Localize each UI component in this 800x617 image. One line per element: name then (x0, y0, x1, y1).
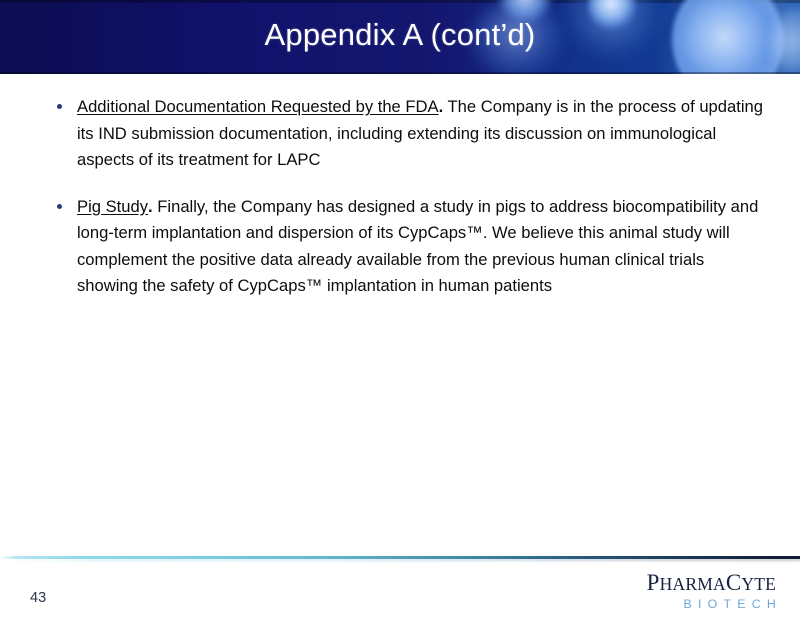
bullet-lead-term: Pig Study (77, 197, 148, 216)
bullet-dot-icon (57, 204, 62, 209)
bullet-list: Additional Documentation Requested by th… (52, 94, 764, 300)
logo-wordmark: PHARMACYTE (647, 571, 776, 596)
bullet-item-pig-study: Pig Study. Finally, the Company has desi… (52, 194, 764, 300)
bullet-dot-icon (57, 104, 62, 109)
logo-letter-p: P (647, 570, 660, 595)
slide-footer: 43 PHARMACYTE BIOTECH (0, 544, 800, 617)
slide-root: Appendix A (cont’d) Additional Documenta… (0, 0, 800, 617)
logo-letters-yte: YTE (741, 574, 776, 594)
logo-letters-harma: HARMA (660, 574, 726, 594)
company-logo: PHARMACYTE BIOTECH (647, 571, 776, 612)
logo-subtitle: BIOTECH (647, 597, 782, 612)
bullet-body-text: Finally, the Company has designed a stud… (77, 197, 758, 296)
footer-divider-glow (0, 559, 800, 561)
banner-top-edge (0, 0, 800, 3)
bullet-item-additional-documentation: Additional Documentation Requested by th… (52, 94, 764, 174)
logo-letter-c: C (726, 570, 742, 595)
header-banner: Appendix A (cont’d) (0, 0, 800, 74)
bullet-lead-term: Additional Documentation Requested by th… (77, 97, 439, 116)
page-number: 43 (30, 589, 46, 607)
slide-title: Appendix A (cont’d) (0, 15, 800, 55)
slide-body: Additional Documentation Requested by th… (0, 74, 800, 544)
